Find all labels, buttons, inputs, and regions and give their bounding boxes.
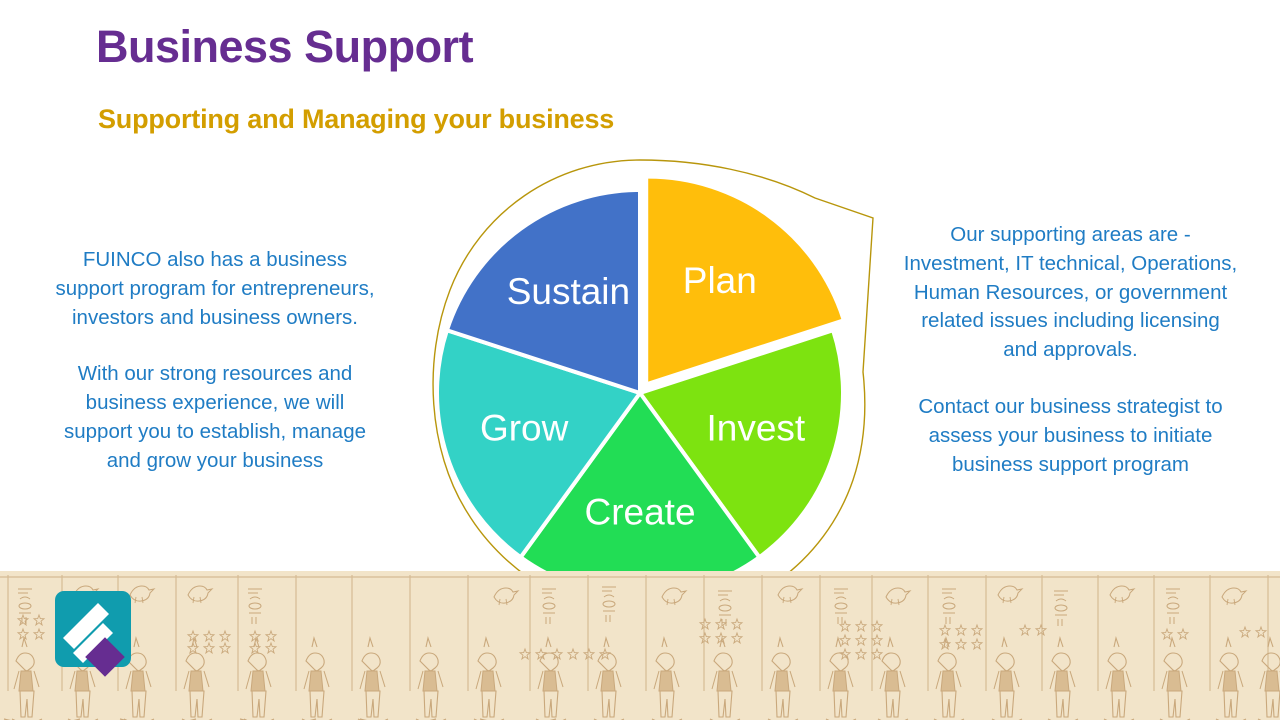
left-paragraph-2: With our strong resources and business e… — [50, 360, 380, 475]
pie-slices — [437, 179, 843, 596]
slide-canvas: Business Support Supporting and Managing… — [0, 0, 1280, 720]
right-paragraph-1: Our supporting areas are - Investment, I… — [903, 221, 1238, 365]
pie-label-grow: Grow — [480, 407, 569, 448]
business-support-pie-chart: PlanInvestCreateGrowSustain — [395, 150, 895, 640]
pie-label-plan: Plan — [683, 260, 757, 301]
egyptian-frieze-banner — [0, 571, 1280, 720]
pie-label-sustain: Sustain — [507, 271, 630, 312]
pie-label-invest: Invest — [706, 407, 805, 448]
page-subtitle: Supporting and Managing your business — [98, 105, 614, 135]
left-paragraph-1: FUINCO also has a business support progr… — [50, 246, 380, 332]
pie-label-create: Create — [584, 492, 695, 533]
left-text-column: FUINCO also has a business support progr… — [50, 246, 380, 476]
right-paragraph-2: Contact our business strategist to asses… — [903, 393, 1238, 479]
page-title: Business Support — [96, 22, 473, 72]
fuinco-logo[interactable] — [55, 591, 131, 667]
right-text-column: Our supporting areas are - Investment, I… — [903, 221, 1238, 479]
